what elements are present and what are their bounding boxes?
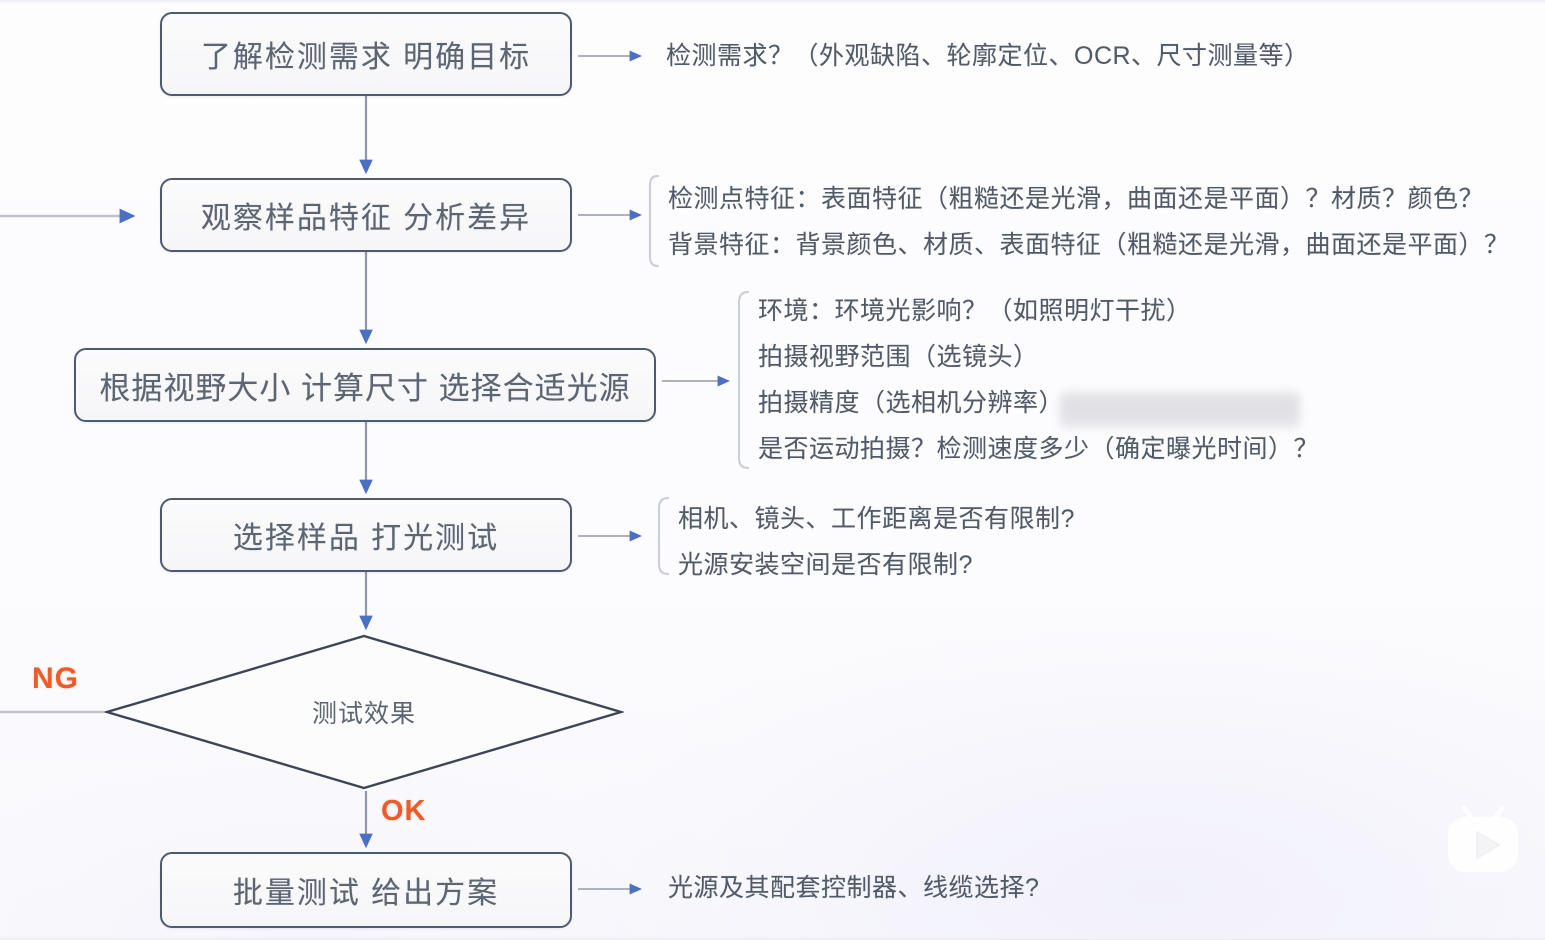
node-sample-test-label: 选择样品 打光测试: [233, 513, 499, 557]
node-requirement[interactable]: 了解检测需求 明确目标: [160, 12, 572, 96]
annotation-line: 相机、镜头、工作距离是否有限制?: [678, 496, 1075, 542]
flowchart-canvas: 了解检测需求 明确目标 观察样品特征 分析差异 根据视野大小 计算尺寸 选择合适…: [0, 0, 1545, 940]
annotation-line: 检测点特征：表面特征（粗糙还是光滑，曲面还是平面）？材质？颜色？: [668, 176, 1510, 222]
annotation-line: 是否运动拍摄？检测速度多少（确定曝光时间）？: [758, 426, 1319, 472]
annotation-line: 拍摄视野范围（选镜头）: [758, 334, 1319, 380]
node-observe-label: 观察样品特征 分析差异: [201, 193, 531, 237]
annotation-observe: 检测点特征：表面特征（粗糙还是光滑，曲面还是平面）？材质？颜色？ 背景特征：背景…: [668, 176, 1510, 268]
annotation-requirement: 检测需求？（外观缺陷、轮廓定位、OCR、尺寸测量等）: [666, 36, 1310, 76]
node-observe[interactable]: 观察样品特征 分析差异: [160, 178, 572, 252]
leader-sample: [578, 498, 668, 574]
node-batch-test-label: 批量测试 给出方案: [233, 868, 499, 912]
annotation-line: 背景特征：背景颜色、材质、表面特征（粗糙还是光滑，曲面还是平面）？: [668, 222, 1510, 268]
leader-observe: [578, 176, 658, 266]
node-batch-test[interactable]: 批量测试 给出方案: [160, 852, 572, 928]
branch-label-ok: OK: [381, 795, 427, 828]
annotation-line: 检测需求？（外观缺陷、轮廓定位、OCR、尺寸测量等）: [666, 36, 1310, 76]
node-decision-test-result[interactable]: 测试效果: [104, 633, 624, 791]
annotation-line: 光源及其配套控制器、线缆选择?: [668, 868, 1039, 908]
node-sample-test[interactable]: 选择样品 打光测试: [160, 498, 572, 572]
annotation-sample-test: 相机、镜头、工作距离是否有限制? 光源安装空间是否有限制?: [678, 496, 1075, 588]
branch-label-ng: NG: [32, 662, 79, 696]
annotation-light-selection: 环境：环境光影响？（如照明灯干扰） 拍摄视野范围（选镜头） 拍摄精度（选相机分辨…: [758, 288, 1319, 472]
frame-edge-top: [0, 0, 1545, 3]
node-decision-label: 测试效果: [104, 694, 624, 730]
node-light-selection-label: 根据视野大小 计算尺寸 选择合适光源: [99, 363, 630, 408]
tv-play-logo-icon: [1441, 802, 1525, 878]
annotation-line: 环境：环境光影响？（如照明灯干扰）: [758, 288, 1319, 334]
node-requirement-label: 了解检测需求 明确目标: [201, 32, 531, 76]
node-light-selection[interactable]: 根据视野大小 计算尺寸 选择合适光源: [74, 348, 656, 422]
annotation-line: 光源安装空间是否有限制?: [678, 542, 1075, 588]
blurred-redaction-smudge: [1060, 392, 1300, 428]
leader-light: [662, 292, 748, 468]
annotation-batch-test: 光源及其配套控制器、线缆选择?: [668, 868, 1039, 908]
